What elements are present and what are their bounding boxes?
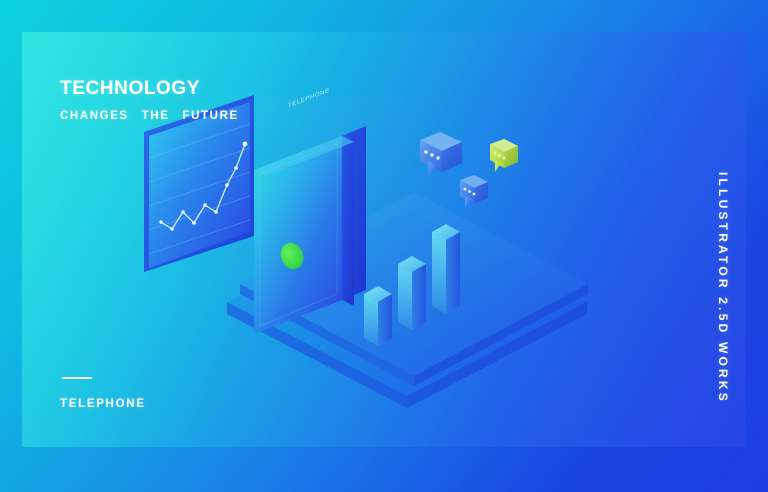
subtitle-word-2: THE (142, 110, 170, 122)
subtitle-word-1: CHANGES (60, 110, 129, 122)
chat-bubble-small (460, 175, 488, 208)
divider-rule (62, 377, 92, 379)
footer-label: TELEPHONE (60, 398, 146, 410)
chat-bubble-green (490, 139, 518, 172)
chat-bubble-large (420, 132, 462, 178)
bar-3 (432, 224, 460, 314)
bar-1 (364, 286, 392, 346)
page-subtitle: CHANGESTHEFUTURE (60, 110, 239, 122)
page-title: TECHNOLOGY (60, 78, 200, 100)
poster-canvas: TELEPHONE (0, 0, 768, 492)
bar-2 (398, 256, 426, 330)
vertical-caption: ILLUSTRATOR 2.5D WORKS (716, 172, 730, 404)
poster-card: TELEPHONE (22, 32, 746, 447)
subtitle-word-3: FUTURE (183, 110, 239, 122)
